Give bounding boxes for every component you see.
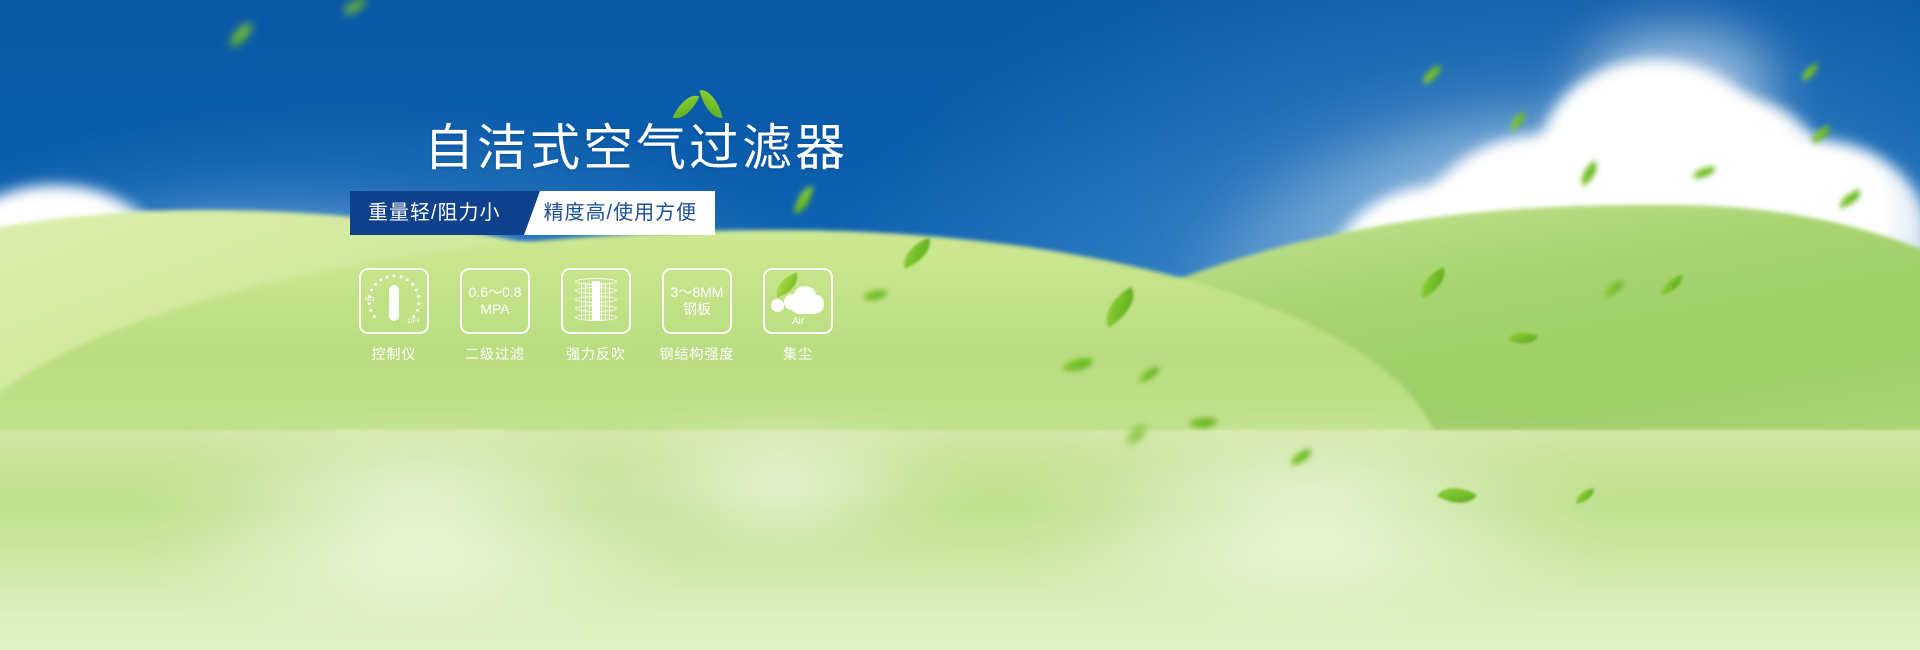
steel-material: 钢板	[671, 301, 724, 318]
dial-tick	[370, 288, 374, 292]
control-dial-icon: NO OFF	[365, 273, 423, 329]
dial-off-label: OFF	[408, 319, 422, 325]
feature-icon-row: NO OFF 控制仪 0.6～0.8 MPA 二级过滤	[358, 268, 834, 364]
dial-tick	[417, 302, 420, 305]
cloud-bump-small	[771, 299, 784, 312]
feature-item-dust[interactable]: Air 集尘	[762, 268, 834, 364]
feature-label: 控制仪	[372, 344, 417, 364]
dial-tick	[417, 295, 420, 298]
feature-icon-box: NO OFF	[359, 268, 429, 334]
steel-thickness: 3～8MM	[671, 284, 724, 301]
dial-tick	[372, 314, 376, 318]
dial-tick	[399, 275, 403, 279]
feature-item-steel[interactable]: 3～8MM 钢板 钢结构强度	[661, 268, 733, 364]
feature-item-control[interactable]: NO OFF 控制仪	[358, 268, 430, 364]
feature-label: 集尘	[783, 344, 813, 364]
dial-tick	[410, 282, 414, 286]
stack-ring	[575, 287, 617, 294]
dial-tick	[405, 278, 409, 282]
pressure-text-icon: 0.6～0.8 MPA	[469, 284, 522, 318]
dial-on-label: NO	[365, 297, 375, 303]
page-title: 自洁式空气过滤器	[424, 117, 848, 179]
feature-icon-box: 3～8MM 钢板	[662, 268, 732, 334]
air-cloud-icon: Air	[770, 278, 826, 324]
banner-content: 自洁式空气过滤器 重量轻/阻力小 精度高/使用方便	[0, 0, 1920, 650]
feature-label: 二级过滤	[465, 344, 525, 364]
hero-banner: 自洁式空气过滤器 重量轻/阻力小 精度高/使用方便	[0, 0, 1920, 650]
steel-plate-text-icon: 3～8MM 钢板	[671, 284, 724, 318]
badge-tab-secondary[interactable]: 精度高/使用方便	[518, 191, 716, 235]
feature-icon-box: 0.6～0.8 MPA	[460, 268, 530, 334]
stack-ring	[575, 314, 617, 321]
feature-label: 钢结构强度	[660, 344, 735, 364]
dial-tick	[373, 282, 377, 286]
feature-badge-group: 重量轻/阻力小 精度高/使用方便	[350, 191, 715, 235]
dial-pointer	[389, 285, 399, 321]
stack-ring	[575, 296, 617, 303]
feature-item-pressure[interactable]: 0.6～0.8 MPA 二级过滤	[459, 268, 531, 364]
dial-tick	[415, 308, 419, 312]
stack-ring	[575, 278, 617, 285]
badge-tab-primary[interactable]: 重量轻/阻力小	[350, 191, 519, 235]
stack-ring	[575, 305, 617, 312]
dial-tick	[369, 308, 373, 312]
dial-tick	[414, 288, 418, 292]
air-label: Air	[770, 316, 826, 327]
dial-tick	[393, 275, 396, 278]
feature-item-backblow[interactable]: 强力反吹	[560, 268, 632, 364]
dial-tick	[379, 278, 383, 282]
filter-stack-icon	[575, 278, 617, 324]
dial-tick	[412, 314, 416, 318]
feature-icon-box	[561, 268, 631, 334]
feature-icon-box: Air	[763, 268, 833, 334]
feature-label: 强力反吹	[566, 344, 626, 364]
cloud-bump	[784, 294, 800, 310]
pressure-range: 0.6～0.8	[469, 284, 522, 301]
pressure-unit: MPA	[469, 301, 522, 318]
dial-tick	[385, 275, 389, 279]
